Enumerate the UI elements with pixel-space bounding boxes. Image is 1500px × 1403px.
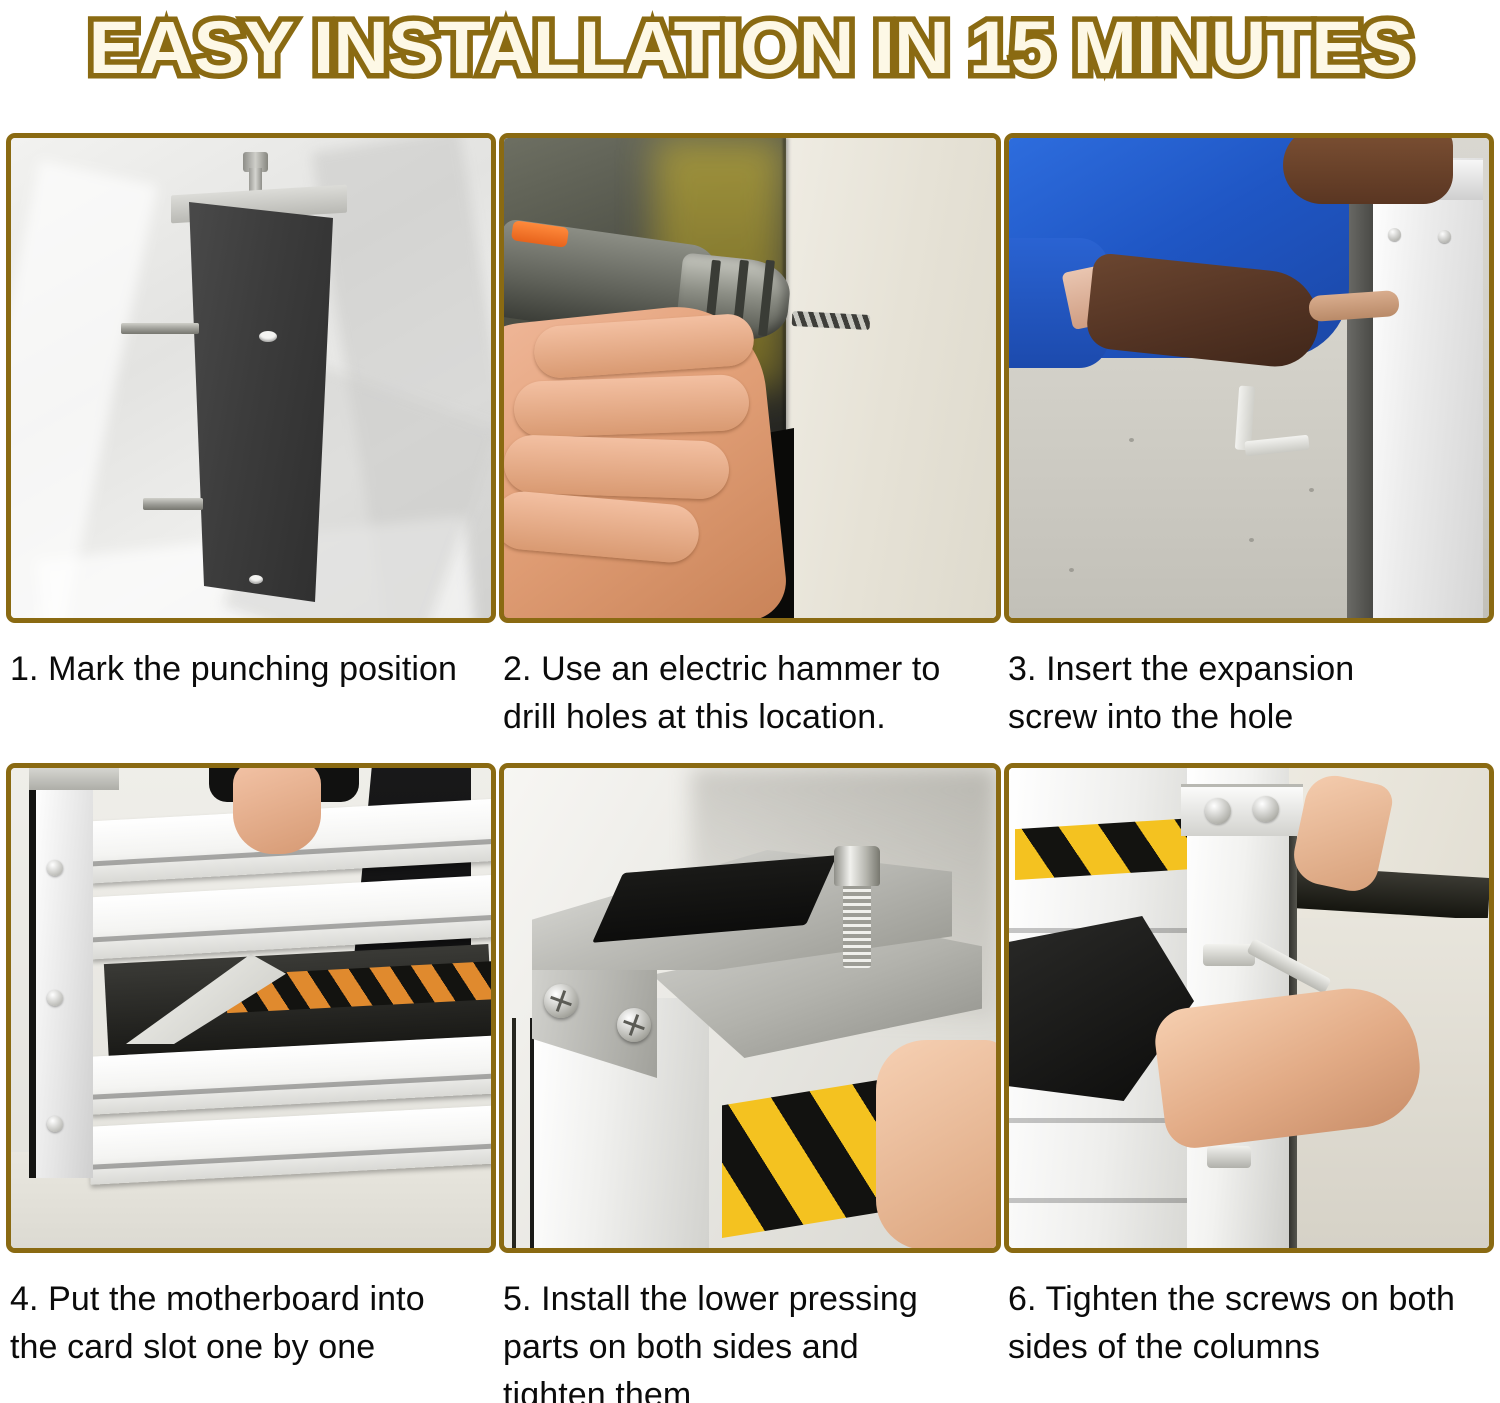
expansion-pin-lower — [143, 498, 203, 510]
worker-hand — [1283, 138, 1453, 204]
step-card-6: 6. Tighten the screws on both sides of t… — [1004, 763, 1494, 1403]
step-card-3: 3. Insert the expansion screw into the h… — [1004, 133, 1494, 741]
step-caption-3: 3. Insert the expansion screw into the h… — [1004, 645, 1494, 741]
hand — [233, 768, 321, 854]
step-photo-frame-4 — [6, 763, 496, 1253]
installation-guide-page: EASY INSTALLATION IN 15 MINUTES — [0, 0, 1500, 1403]
step-photo-3 — [1009, 138, 1489, 618]
step-photo-2 — [504, 138, 996, 618]
mounting-hole-lower — [249, 575, 263, 584]
step-caption-6: 6. Tighten the screws on both sides of t… — [1004, 1275, 1494, 1371]
wall-surface — [786, 138, 996, 618]
column-screw-2 — [1253, 796, 1279, 822]
step-photo-4 — [11, 768, 491, 1248]
step-photo-frame-3 — [1004, 133, 1494, 623]
column-bolt-upper — [1203, 944, 1255, 966]
page-title: EASY INSTALLATION IN 15 MINUTES — [88, 8, 1411, 88]
pressing-bolt — [834, 846, 880, 968]
step-card-1: 1. Mark the punching position — [6, 133, 496, 741]
steps-grid: 1. Mark the punching position — [6, 133, 1494, 1403]
hand — [876, 1040, 996, 1248]
step-photo-frame-6 — [1004, 763, 1494, 1253]
column-screw-2 — [1438, 230, 1451, 243]
bracket-screw-2 — [617, 1008, 651, 1042]
card-slot-column — [29, 768, 93, 1178]
page-title-bar: EASY INSTALLATION IN 15 MINUTES — [0, 0, 1500, 96]
expansion-pin-upper — [121, 323, 199, 334]
column-profile — [1373, 158, 1483, 618]
step-photo-frame-2 — [499, 133, 1001, 623]
column-screw-1 — [1388, 228, 1401, 241]
step-caption-4: 4. Put the motherboard into the card slo… — [6, 1275, 496, 1371]
post-screw-3 — [47, 1116, 63, 1132]
mounting-post — [183, 202, 333, 602]
mounting-hole-upper — [259, 331, 277, 342]
post-screw-2 — [47, 990, 63, 1006]
bracket-screw-1 — [544, 984, 578, 1018]
step-photo-frame-5 — [499, 763, 1001, 1253]
step-photo-frame-1 — [6, 133, 496, 623]
step-photo-6 — [1009, 768, 1489, 1248]
step-card-4: 4. Put the motherboard into the card slo… — [6, 763, 496, 1403]
step-photo-5 — [504, 768, 996, 1248]
step-photo-1 — [11, 138, 491, 618]
column-bolt-lower — [1207, 1146, 1251, 1168]
step-card-5: 5. Install the lower pressing parts on b… — [499, 763, 1001, 1403]
step-card-2: 2. Use an electric hammer to drill holes… — [499, 133, 1001, 741]
column-screw-1 — [1205, 798, 1231, 824]
step-caption-2: 2. Use an electric hammer to drill holes… — [499, 645, 1001, 741]
post-screw-1 — [47, 860, 63, 876]
step-caption-1: 1. Mark the punching position — [6, 645, 496, 693]
step-caption-5: 5. Install the lower pressing parts on b… — [499, 1275, 1001, 1403]
